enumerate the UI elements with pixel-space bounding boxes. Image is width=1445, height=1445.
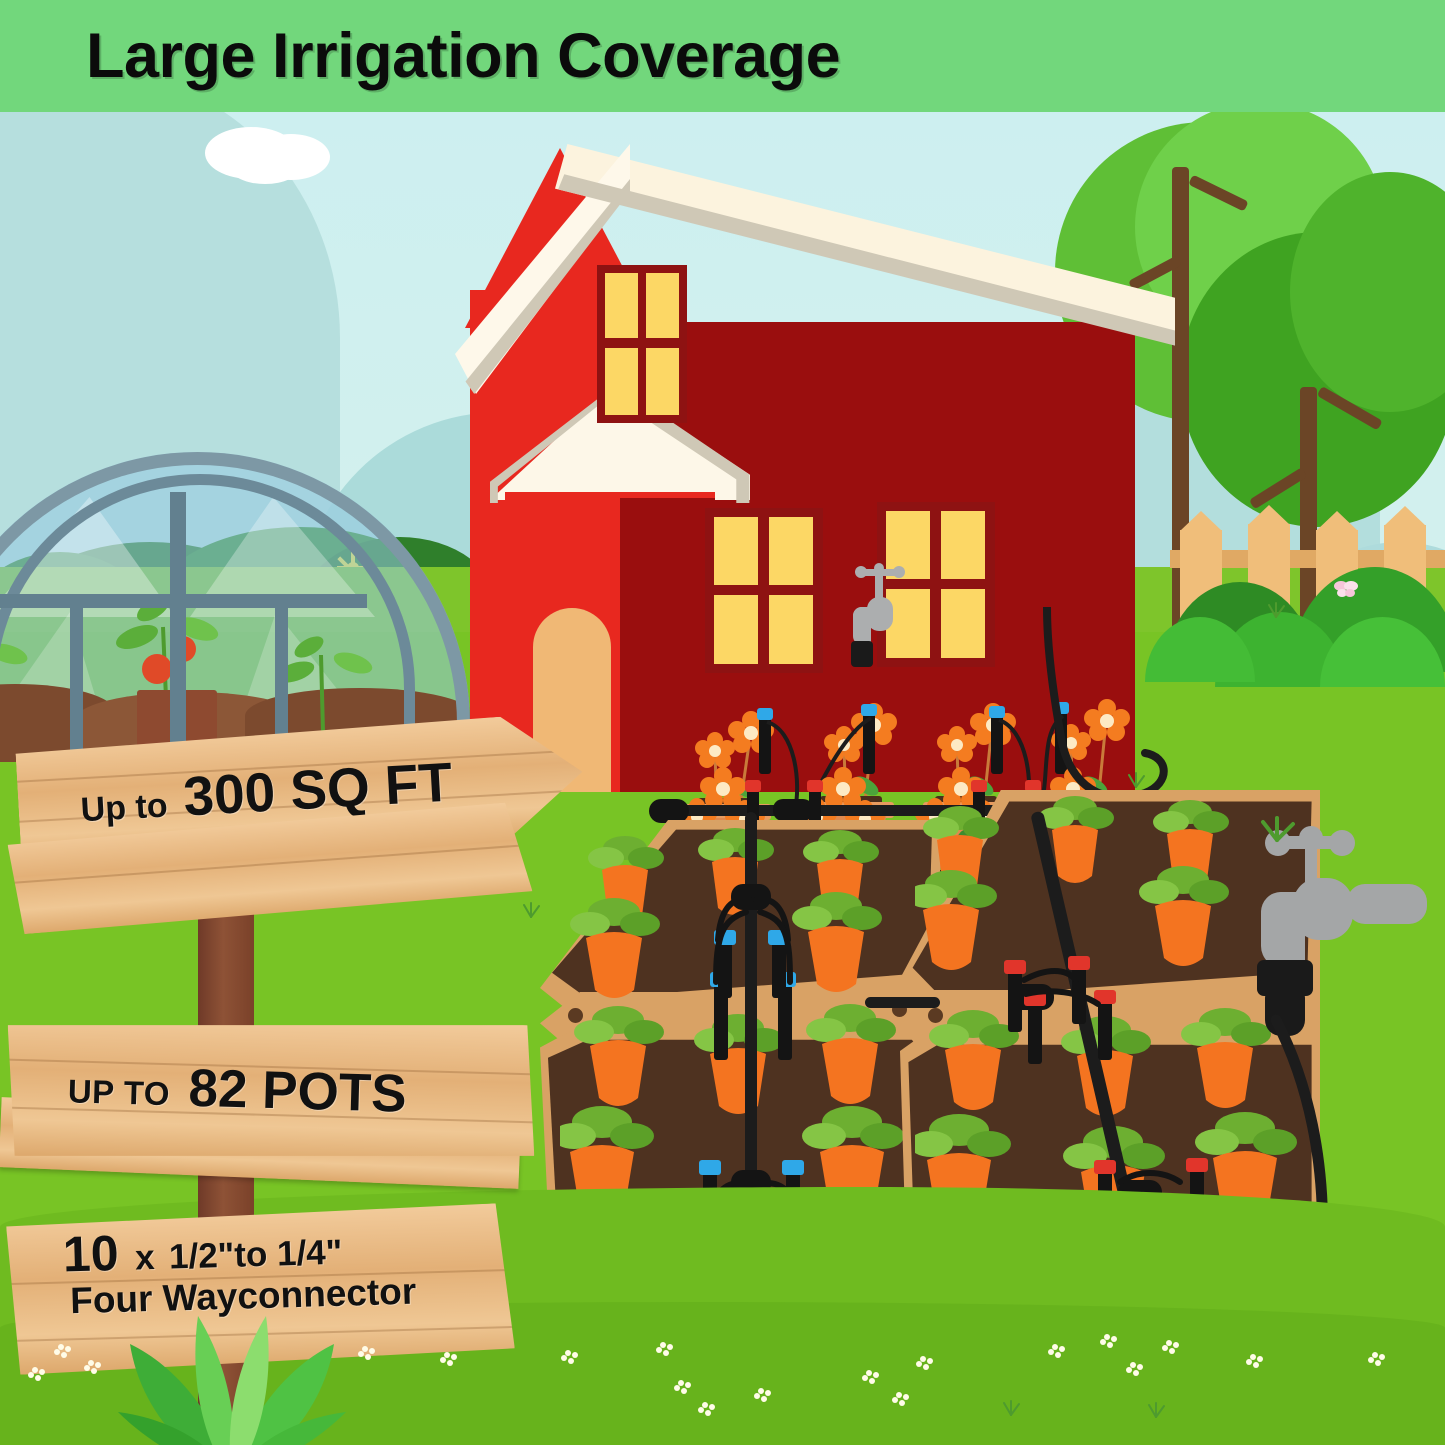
- butterfly-icon: [1333, 580, 1359, 598]
- drip-stake: [1008, 970, 1022, 1032]
- signpost: Up to 300 SQ FT UP TO 82 POTS: [0, 700, 600, 1445]
- dripper-cap-red: [745, 780, 761, 792]
- house-window-upper: [597, 265, 687, 423]
- sign-board-pots: UP TO 82 POTS: [4, 1011, 538, 1171]
- dripper-cap-blue: [861, 704, 877, 716]
- lawn-flower: [1052, 1344, 1058, 1350]
- drip-stake: [1072, 966, 1086, 1024]
- sign-connector-quantity: 10: [62, 1225, 119, 1283]
- bed-bolt: [928, 1008, 943, 1023]
- dripper-cap-red: [1094, 990, 1116, 1004]
- garden-faucet: [1285, 830, 1445, 1060]
- post-base-leaves: [112, 1300, 352, 1445]
- lawn-flower: [1166, 1340, 1172, 1346]
- lawn-flower: [896, 1392, 902, 1398]
- grass-tuft-icon: [520, 902, 542, 918]
- grass-tuft-icon: [1265, 602, 1287, 618]
- lawn-flower: [1250, 1354, 1256, 1360]
- lawn-flower: [678, 1380, 684, 1386]
- dripper-cap-red: [1024, 992, 1046, 1006]
- grass-tuft-icon: [1255, 814, 1301, 844]
- drip-stake: [1098, 1000, 1112, 1060]
- lawn-flower: [362, 1346, 368, 1352]
- page-title: Large Irrigation Coverage: [86, 25, 840, 88]
- dripper-cap-blue: [768, 930, 790, 945]
- dripper-cap-red: [1004, 960, 1026, 974]
- drip-stake: [718, 940, 732, 998]
- dripper-cap-red: [1094, 1160, 1116, 1174]
- drip-stake: [1028, 1002, 1042, 1064]
- greenhouse-rail: [0, 594, 367, 608]
- lawn-flower: [565, 1350, 571, 1356]
- lawn-flower: [920, 1356, 926, 1362]
- lawn-flower: [58, 1344, 64, 1350]
- dripper-cap-red: [1068, 956, 1090, 970]
- four-way-connector: [731, 884, 771, 910]
- lawn-flower: [758, 1388, 764, 1394]
- wall-faucet: [845, 555, 925, 670]
- sign-pots-value: 82 POTS: [188, 1059, 408, 1124]
- lawn-flower: [88, 1360, 94, 1366]
- lawn-flower: [444, 1352, 450, 1358]
- sign-sqft-prefix: Up to: [80, 786, 169, 829]
- lawn-flower: [702, 1402, 708, 1408]
- dripper-cap-blue: [1053, 702, 1069, 714]
- drip-stake: [772, 940, 786, 998]
- product-infographic: Large Irrigation Coverage: [0, 0, 1445, 1445]
- grass-tuft-icon: [1000, 1400, 1022, 1416]
- dripper-cap-blue: [699, 1160, 721, 1175]
- sign-connector-size: 1/2"to 1/4": [169, 1233, 343, 1277]
- house-window-left: [705, 508, 823, 673]
- dripper-cap-blue: [757, 708, 773, 720]
- grass-tuft-icon: [1125, 772, 1147, 788]
- bed-link-hose: [865, 997, 940, 1008]
- dripper-cap-red: [1186, 1158, 1208, 1172]
- lawn-flower: [1130, 1362, 1136, 1368]
- dripper-cap-red: [807, 780, 823, 792]
- sign-connector-multiplier: x: [135, 1238, 156, 1278]
- cloud: [230, 150, 300, 184]
- garden-scene: Up to 300 SQ FT UP TO 82 POTS: [0, 112, 1445, 1445]
- lawn-flower: [660, 1342, 666, 1348]
- dripper-cap-blue: [714, 930, 736, 945]
- header-banner: Large Irrigation Coverage: [0, 0, 1445, 112]
- lawn-flower: [1372, 1352, 1378, 1358]
- dripper-cap-blue: [782, 1160, 804, 1175]
- grass-tuft-icon: [1145, 1402, 1167, 1418]
- lawn-flower: [1104, 1334, 1110, 1340]
- dripper-cap-blue: [989, 706, 1005, 718]
- sign-pots-prefix: UP TO: [67, 1072, 170, 1112]
- lawn-flower: [866, 1370, 872, 1376]
- lawn-flower: [32, 1367, 38, 1373]
- four-way-connector: [773, 799, 813, 821]
